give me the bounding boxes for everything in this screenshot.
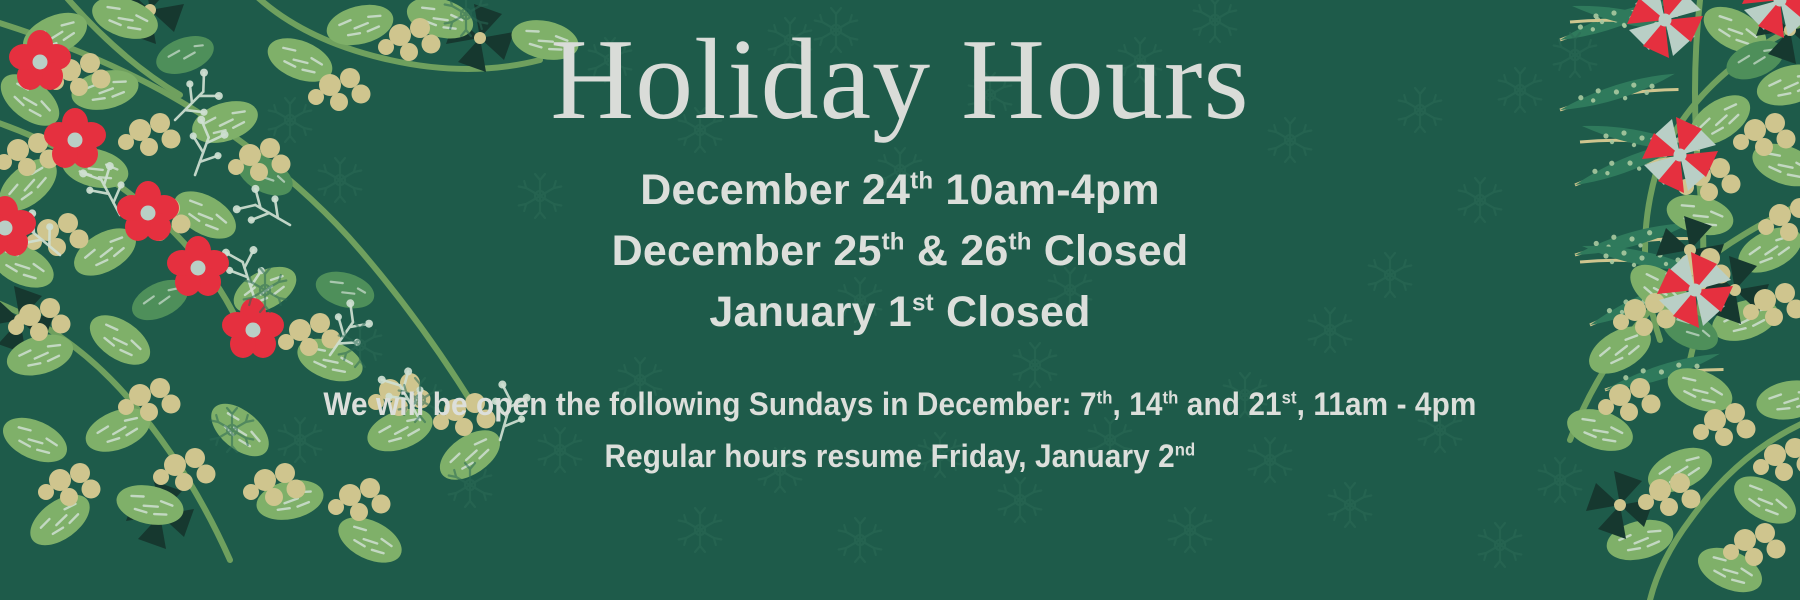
note-lead: We will be open the following Sundays in… bbox=[323, 386, 1096, 422]
ordinal-suffix: th bbox=[1097, 387, 1113, 407]
hours-line-dec25-26: December 25th & 26th Closed bbox=[612, 221, 1189, 282]
hours-detail: Closed bbox=[1032, 227, 1189, 275]
note-sunday-hours: We will be open the following Sundays in… bbox=[323, 379, 1476, 431]
ordinal-suffix: st bbox=[912, 290, 934, 317]
ordinal-suffix: th bbox=[1008, 229, 1031, 256]
holiday-notes: We will be open the following Sundays in… bbox=[280, 379, 1520, 483]
note-mid-1: , 14 bbox=[1113, 386, 1163, 422]
hours-detail: 10am-4pm bbox=[933, 166, 1159, 214]
hours-line-dec24: December 24th 10am-4pm bbox=[612, 160, 1189, 221]
ordinal-suffix: st bbox=[1282, 387, 1297, 407]
hours-date: December 24 bbox=[640, 166, 910, 214]
holiday-hours-list: December 24th 10am-4pm December 25th & 2… bbox=[612, 160, 1189, 343]
hours-detail: Closed bbox=[934, 288, 1091, 336]
hours-line-jan1: January 1st Closed bbox=[612, 282, 1189, 343]
holiday-hours-banner: Holiday Hours December 24th 10am-4pm Dec… bbox=[0, 0, 1800, 600]
hours-date: January 1 bbox=[709, 288, 912, 336]
note-tail: , 11am - 4pm bbox=[1297, 386, 1477, 422]
ordinal-suffix: th bbox=[910, 168, 933, 195]
hours-date-second: & 26 bbox=[905, 227, 1009, 275]
note-regular-hours-resume: Regular hours resume Friday, January 2nd bbox=[323, 431, 1476, 483]
ordinal-suffix: th bbox=[882, 229, 905, 256]
page-title: Holiday Hours bbox=[550, 22, 1249, 138]
hours-date: December 25 bbox=[612, 227, 882, 275]
note-mid-2: and 21 bbox=[1179, 386, 1282, 422]
ordinal-suffix: th bbox=[1163, 387, 1179, 407]
ordinal-suffix: nd bbox=[1175, 439, 1196, 459]
note-lead: Regular hours resume Friday, January 2 bbox=[605, 438, 1175, 474]
